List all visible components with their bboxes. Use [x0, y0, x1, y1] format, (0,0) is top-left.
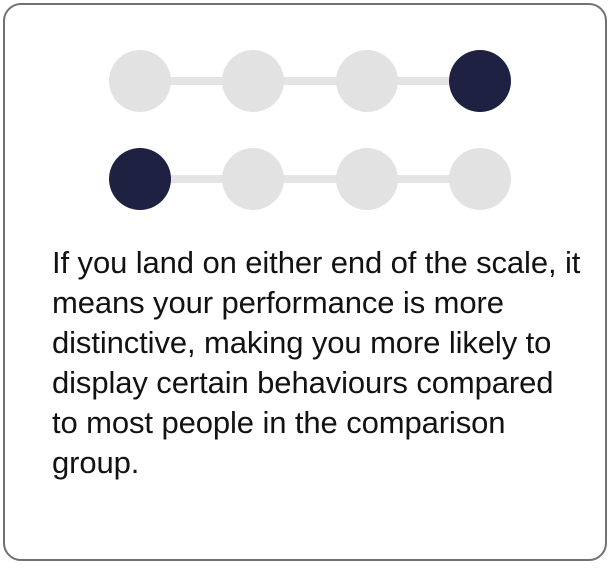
scale-row-2 [109, 148, 511, 210]
scale-track-2 [140, 175, 480, 183]
scale-track-1 [140, 77, 480, 85]
scale-dot-2-1-active[interactable] [109, 148, 171, 210]
scale-row-1 [109, 50, 511, 112]
scale-dot-1-2[interactable] [222, 50, 284, 112]
info-card: If you land on either end of the scale, … [3, 3, 607, 561]
scale-dot-1-1[interactable] [109, 50, 171, 112]
scale-illustration [109, 50, 515, 210]
scale-dot-1-3[interactable] [336, 50, 398, 112]
scale-dot-2-4[interactable] [449, 148, 511, 210]
scale-dot-2-3[interactable] [336, 148, 398, 210]
scale-dot-1-4-active[interactable] [449, 50, 511, 112]
explanation-text: If you land on either end of the scale, … [52, 243, 587, 483]
scale-dot-2-2[interactable] [222, 148, 284, 210]
